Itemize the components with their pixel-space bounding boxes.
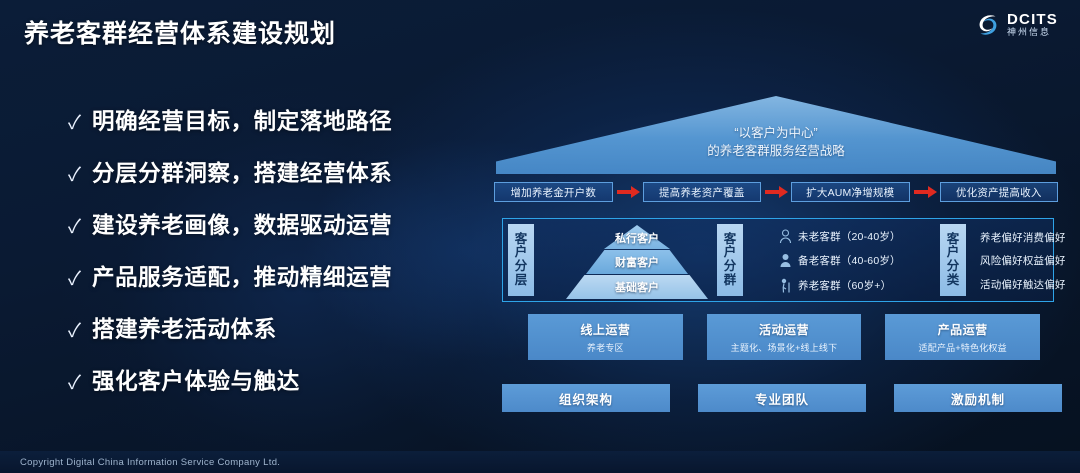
check-icon: ✓	[68, 114, 81, 133]
kpi-box-1[interactable]: 增加养老金开户数	[494, 182, 613, 202]
vertical-label-char: 户	[947, 246, 960, 260]
operation-card-title: 产品运营	[938, 321, 988, 338]
adult-person-icon	[779, 253, 792, 268]
operation-card-campaign[interactable]: 活动运营 主题化、场景化+线上线下	[707, 314, 862, 360]
kpi-box-4[interactable]: 优化资产提高收入	[940, 182, 1059, 202]
vertical-label-category: 客 户 分 类	[940, 224, 966, 296]
young-person-icon	[779, 229, 792, 244]
page-title: 养老客群经营体系建设规划	[24, 14, 336, 50]
group-label: 备老客群（40-60岁）	[798, 253, 901, 268]
list-item-label: 搭建养老活动体系	[92, 312, 277, 344]
operations-row: 线上运营 养老专区 活动运营 主题化、场景化+线上线下 产品运营 适配产品+特色…	[528, 314, 1040, 360]
vertical-label-char: 群	[724, 274, 737, 288]
slide-header: 养老客群经营体系建设规划 DCITS 神州信息	[0, 0, 1080, 58]
operation-card-title: 线上运营	[580, 321, 630, 338]
preference-cell: 触达偏好	[1023, 277, 1066, 292]
preference-cell: 风险偏好	[980, 253, 1023, 268]
copyright-text: Copyright Digital China Information Serv…	[20, 457, 280, 468]
group-section: 未老客群（20-40岁） 备老客群（40-60岁）	[743, 219, 935, 301]
vertical-label-char: 类	[947, 274, 960, 288]
vertical-label-tier: 客 户 分 层	[508, 224, 534, 296]
preference-cell: 消费偏好	[1023, 230, 1066, 245]
check-icon: ✓	[68, 270, 81, 289]
slide-canvas: 养老客群经营体系建设规划 DCITS 神州信息 ✓ 明确经营目标，制定落地路径 …	[0, 0, 1080, 473]
group-label: 养老客群（60岁+）	[798, 278, 891, 293]
roof-text: “以客户为中心” 的养老客群服务经营战略	[496, 124, 1056, 160]
list-item: ✓ 搭建养老活动体系	[68, 312, 468, 344]
list-item-label: 明确经营目标，制定落地路径	[92, 104, 392, 136]
operation-card-title: 活动运营	[759, 321, 809, 338]
list-item-label: 产品服务适配，推动精细运营	[92, 260, 392, 292]
list-item-label: 分层分群洞察，搭建经营体系	[92, 156, 392, 188]
vertical-label-char: 分	[724, 260, 737, 274]
slide-footer: Copyright Digital China Information Serv…	[0, 451, 1080, 473]
operation-card-product[interactable]: 产品运营 适配产品+特色化权益	[885, 314, 1040, 360]
vertical-label-char: 分	[515, 260, 528, 274]
pyramid-tier-top-label: 私行客户	[596, 229, 678, 247]
roof-line-2: 的养老客群服务经营战略	[496, 142, 1056, 160]
brand-logo: DCITS 神州信息	[975, 12, 1058, 38]
list-item: ✓ 强化客户体验与触达	[68, 364, 468, 396]
preference-grid: 养老偏好 消费偏好 风险偏好 权益偏好 活动偏好 触达偏好	[980, 226, 1047, 296]
operation-card-online[interactable]: 线上运营 养老专区	[528, 314, 683, 360]
strategy-roof: “以客户为中心” 的养老客群服务经营战略	[496, 96, 1056, 174]
kpi-flow-row: 增加养老金开户数 提高养老资产覆盖 扩大AUM净增规模 优化资产提高收入	[494, 182, 1058, 202]
pyramid-tier-middle: 财富客户	[586, 250, 688, 274]
roof-line-1: “以客户为中心”	[496, 124, 1056, 142]
logo-cn: 神州信息	[1007, 28, 1058, 37]
key-points-list: ✓ 明确经营目标，制定落地路径 ✓ 分层分群洞察，搭建经营体系 ✓ 建设养老画像…	[68, 104, 468, 416]
foundation-box-org[interactable]: 组织架构	[502, 384, 670, 412]
pyramid-tier-base: 基础客户	[566, 275, 708, 299]
foundation-box-team[interactable]: 专业团队	[698, 384, 866, 412]
tier-section: 私行客户 财富客户 基础客户	[534, 219, 712, 301]
foundation-box-incentive[interactable]: 激励机制	[894, 384, 1062, 412]
preference-cell: 养老偏好	[980, 230, 1023, 245]
check-icon: ✓	[68, 166, 81, 185]
vertical-label-char: 户	[515, 246, 528, 260]
customer-group-list: 未老客群（20-40岁） 备老客群（40-60岁）	[779, 224, 929, 298]
elderly-person-icon	[779, 278, 792, 293]
customer-segmentation-panel: 客 户 分 层 私行客户 财富客户 基础客户 客 户 分 群	[502, 218, 1054, 302]
check-icon: ✓	[68, 322, 81, 341]
right-arrow-icon	[910, 182, 940, 202]
preference-cell: 活动偏好	[980, 277, 1023, 292]
right-arrow-icon	[761, 182, 791, 202]
foundation-row: 组织架构 专业团队 激励机制	[502, 384, 1062, 412]
list-item: ✓ 产品服务适配，推动精细运营	[68, 260, 468, 292]
logo-text: DCITS 神州信息	[1007, 12, 1058, 37]
vertical-label-char: 层	[515, 274, 528, 288]
kpi-box-3[interactable]: 扩大AUM净增规模	[791, 182, 910, 202]
list-item: 养老客群（60岁+）	[779, 278, 929, 293]
list-item: ✓ 建设养老画像，数据驱动运营	[68, 208, 468, 240]
right-arrow-icon	[613, 182, 643, 202]
vertical-label-char: 分	[947, 260, 960, 274]
dcits-swirl-icon	[975, 12, 1001, 38]
preference-cell: 权益偏好	[1023, 253, 1066, 268]
list-item-label: 建设养老画像，数据驱动运营	[92, 208, 392, 240]
logo-en: DCITS	[1007, 12, 1058, 28]
list-item: 备老客群（40-60岁）	[779, 253, 929, 268]
strategy-diagram: “以客户为中心” 的养老客群服务经营战略 增加养老金开户数 提高养老资产覆盖 扩…	[488, 96, 1064, 426]
list-item-label: 强化客户体验与触达	[92, 364, 300, 396]
operation-card-sub: 养老专区	[587, 341, 624, 354]
category-section: 养老偏好 消费偏好 风险偏好 权益偏好 活动偏好 触达偏好	[966, 219, 1053, 301]
vertical-label-char: 户	[724, 246, 737, 260]
list-item: ✓ 明确经营目标，制定落地路径	[68, 104, 468, 136]
operation-card-sub: 主题化、场景化+线上线下	[731, 341, 838, 354]
operation-card-sub: 适配产品+特色化权益	[919, 341, 1007, 354]
check-icon: ✓	[68, 374, 81, 393]
list-item: ✓ 分层分群洞察，搭建经营体系	[68, 156, 468, 188]
group-label: 未老客群（20-40岁）	[798, 229, 901, 244]
customer-tier-pyramid: 私行客户 财富客户 基础客户	[566, 223, 708, 299]
vertical-label-group: 客 户 分 群	[717, 224, 743, 296]
kpi-box-2[interactable]: 提高养老资产覆盖	[643, 182, 762, 202]
check-icon: ✓	[68, 218, 81, 237]
list-item: 未老客群（20-40岁）	[779, 229, 929, 244]
